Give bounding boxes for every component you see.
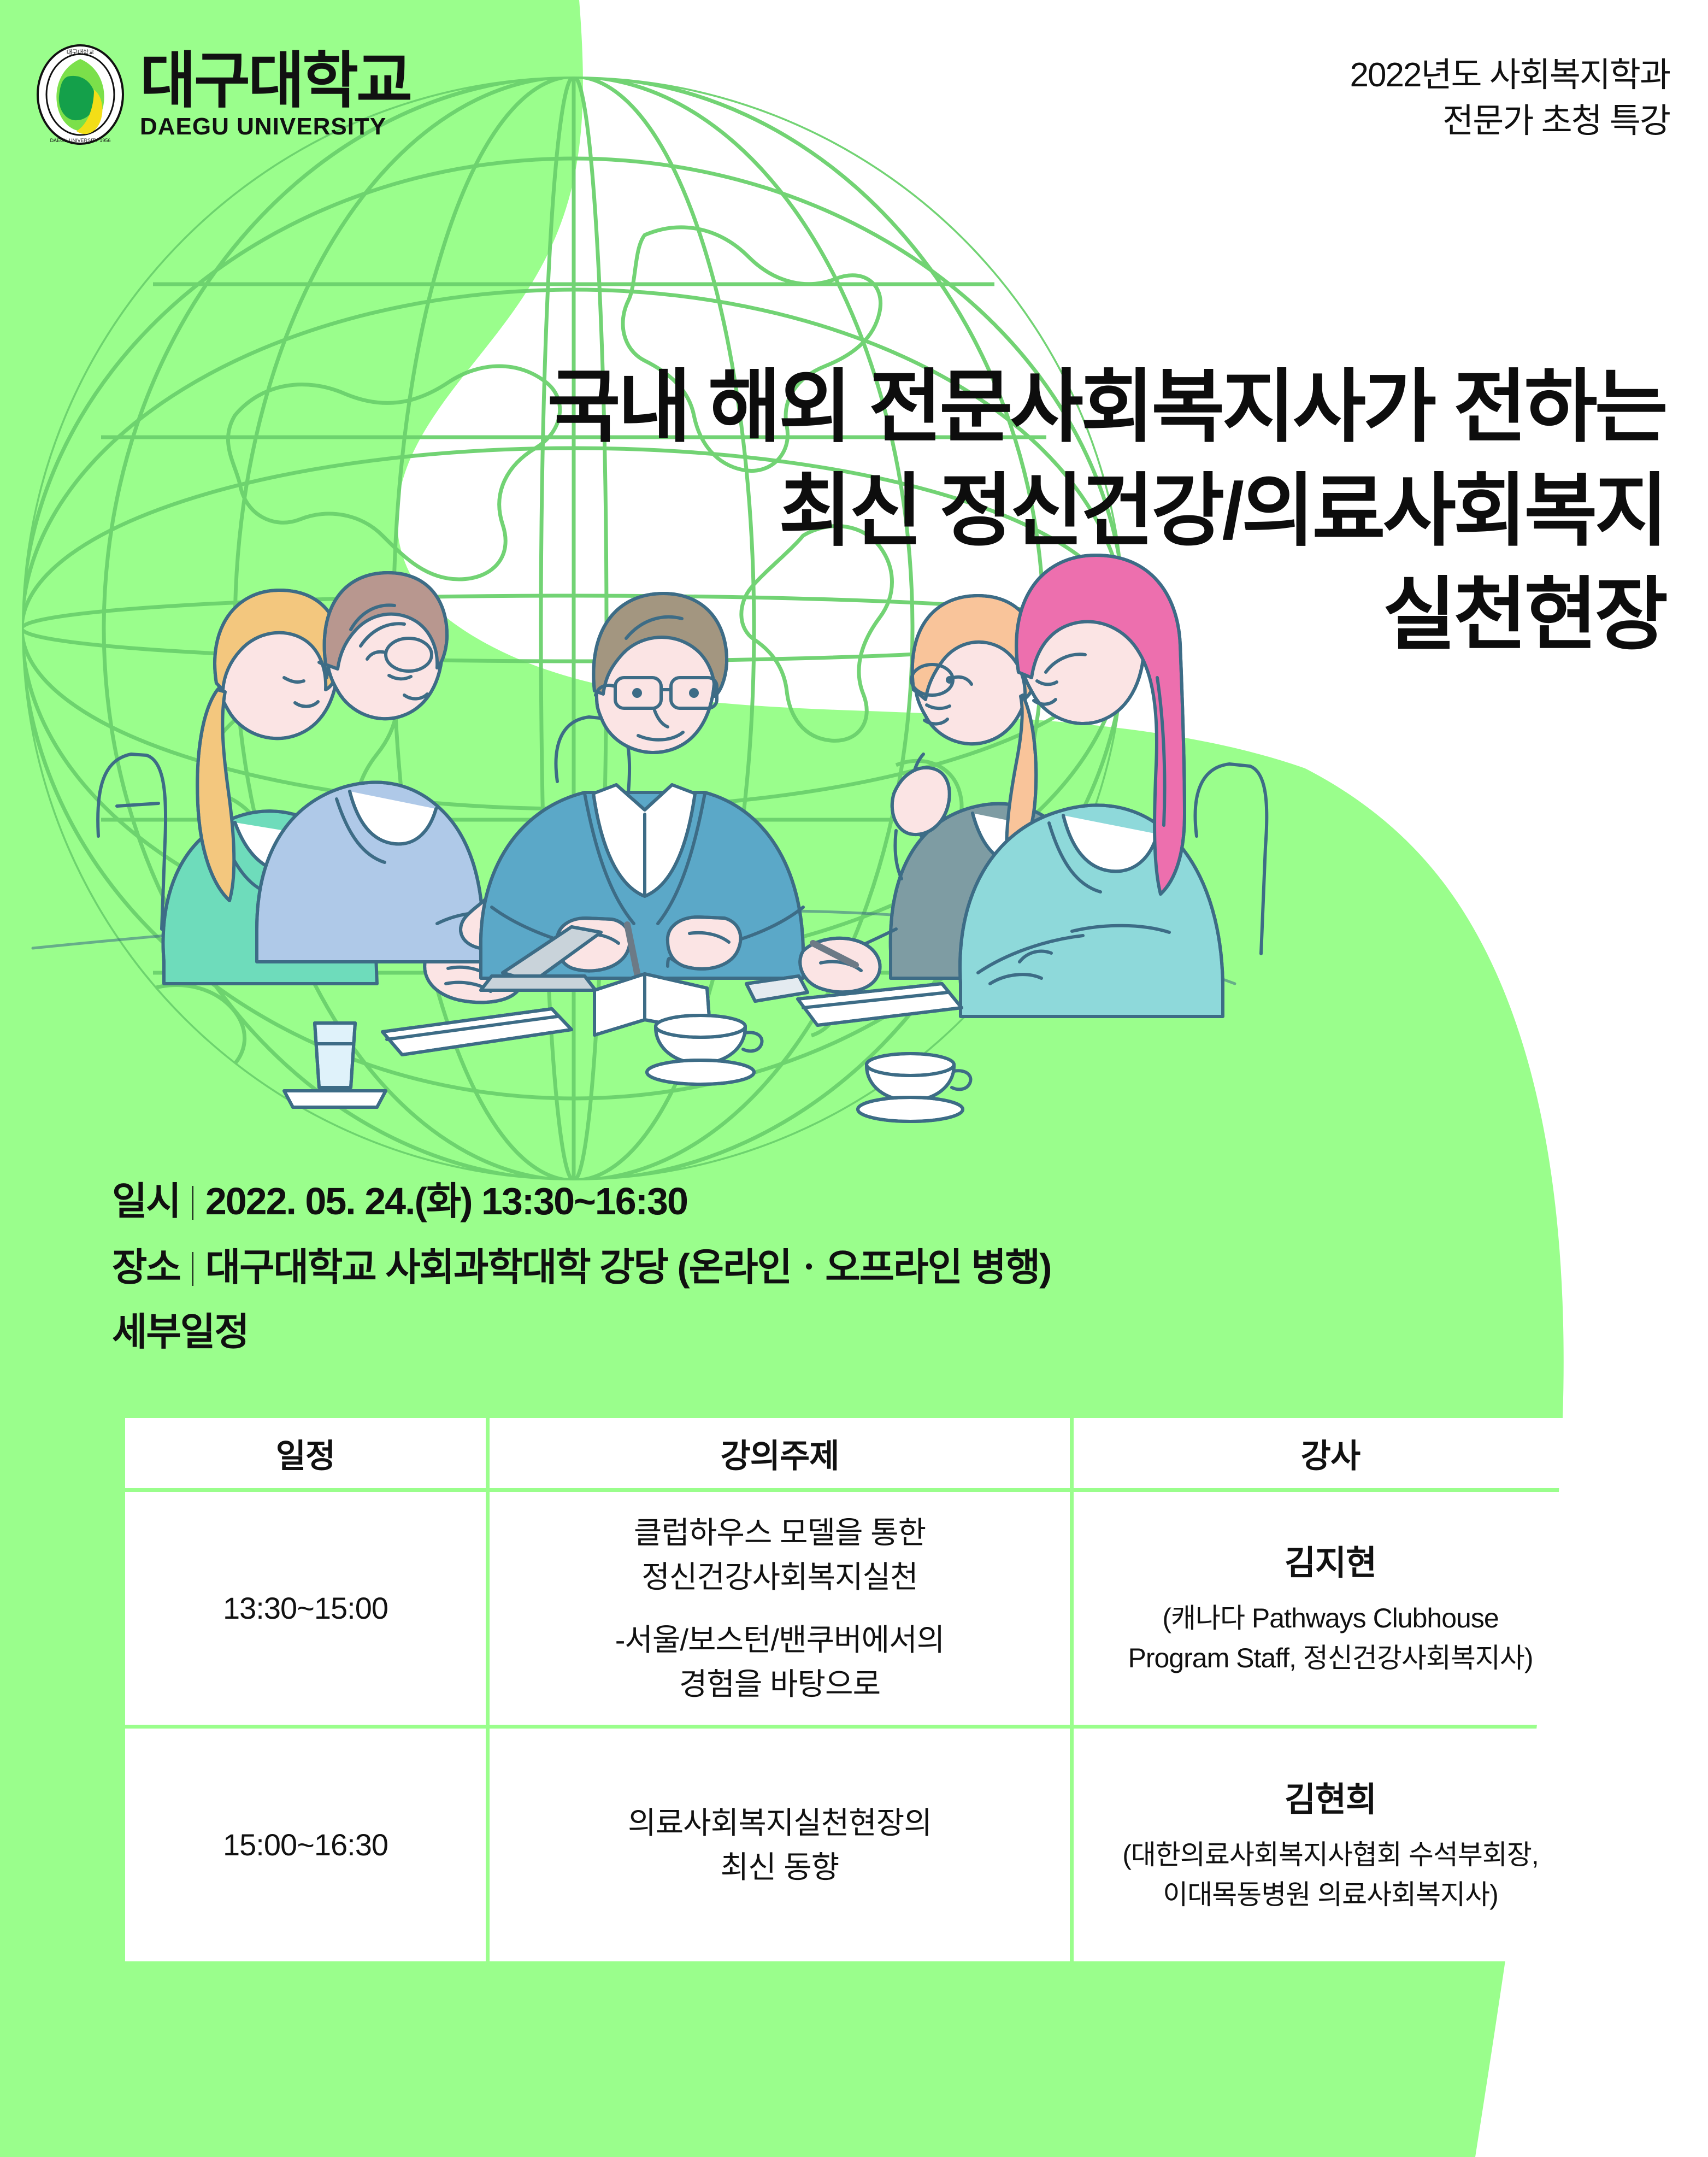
event-place-label: 장소 [112,1248,180,1286]
event-date-label: 일시 [112,1182,180,1220]
headline-line-3: 실천현장 [547,563,1666,667]
kicker-line-2: 전문가 초청 특강 [1350,98,1670,144]
table-header-row: 일정 강의주제 강사 [125,1418,1587,1488]
speaker-name: 김현희 [1074,1776,1587,1825]
event-place-value: 대구대학교 사회과학대학 강당 (온라인ㆍ오프라인 병행) [205,1248,1051,1286]
event-date-value: 2022. 05. 24.(화) 13:30~16:30 [205,1182,687,1220]
logo-english-wordmark: DAEGU UNIVERSITY [140,115,410,139]
poster-canvas: 대구대학교 DAEGU UNIVERSITY 1956 대구대학교 DAEGU … [0,0,1708,2157]
cell-topic: 의료사회복지실천현장의 최신 동향 [490,1729,1070,1961]
daegu-university-seal-icon: 대구대학교 DAEGU UNIVERSITY 1956 [34,43,127,146]
svg-text:대구대학교: 대구대학교 [67,49,95,56]
column-header-speaker: 강사 [1074,1418,1587,1488]
headline-line-2: 최신 정신건강/의료사회복지 [547,459,1666,563]
speaker-name: 김지현 [1074,1539,1587,1588]
headline-line-1: 국내 해외 전문사회복지사가 전하는 [547,355,1666,459]
label-divider [192,1186,193,1220]
cell-topic: 클럽하우스 모델을 통한 정신건강사회복지실천 -서울/보스턴/밴쿠버에서의 경… [490,1492,1070,1725]
logo-korean-wordmark: 대구대학교 [140,50,410,111]
kicker-line-1: 2022년도 사회복지학과 [1350,52,1670,98]
cell-time: 15:00~16:30 [125,1729,486,1961]
cell-speaker: 김현희 (대한의료사회복지사협회 수석부회장, 이대목동병원 의료사회복지사) [1074,1729,1587,1961]
event-info-block: 일시 2022. 05. 24.(화) 13:30~16:30 장소 대구대학교… [112,1180,1051,1351]
label-divider [192,1252,193,1286]
brand-logo: 대구대학교 DAEGU UNIVERSITY 1956 대구대학교 DAEGU … [34,43,410,146]
table-row: 13:30~15:00 클럽하우스 모델을 통한 정신건강사회복지실천 -서울/… [125,1492,1587,1725]
schedule-section-label: 세부일정 [112,1313,1051,1351]
speaker-affiliation: (캐나다 Pathways Clubhouse Program Staff, 정… [1074,1598,1587,1678]
cell-time: 13:30~15:00 [125,1492,486,1725]
column-header-time: 일정 [125,1418,486,1488]
column-header-topic: 강의주제 [490,1418,1070,1488]
event-date-row: 일시 2022. 05. 24.(화) 13:30~16:30 [112,1180,1051,1220]
coffee-cup [647,1015,762,1084]
event-kicker: 2022년도 사회복지학과 전문가 초청 특강 [1350,52,1670,144]
svg-text:DAEGU UNIVERSITY 1956: DAEGU UNIVERSITY 1956 [50,138,111,143]
speaker-affiliation: (대한의료사회복지사협회 수석부회장, 이대목동병원 의료사회복지사) [1074,1835,1587,1914]
topic-line-gap [490,1599,1070,1618]
schedule-table: 일정 강의주제 강사 13:30~15:00 클럽하우스 모델을 통한 정신건강… [121,1414,1591,1965]
cell-speaker: 김지현 (캐나다 Pathways Clubhouse Program Staf… [1074,1492,1587,1725]
coffee-cup-right [858,1054,970,1121]
event-place-row: 장소 대구대학교 사회과학대학 강당 (온라인ㆍ오프라인 병행) [112,1247,1051,1286]
table-row: 15:00~16:30 의료사회복지실천현장의 최신 동향 김현희 (대한의료사… [125,1729,1587,1961]
poster-headline: 국내 해외 전문사회복지사가 전하는 최신 정신건강/의료사회복지 실천현장 [547,355,1666,666]
